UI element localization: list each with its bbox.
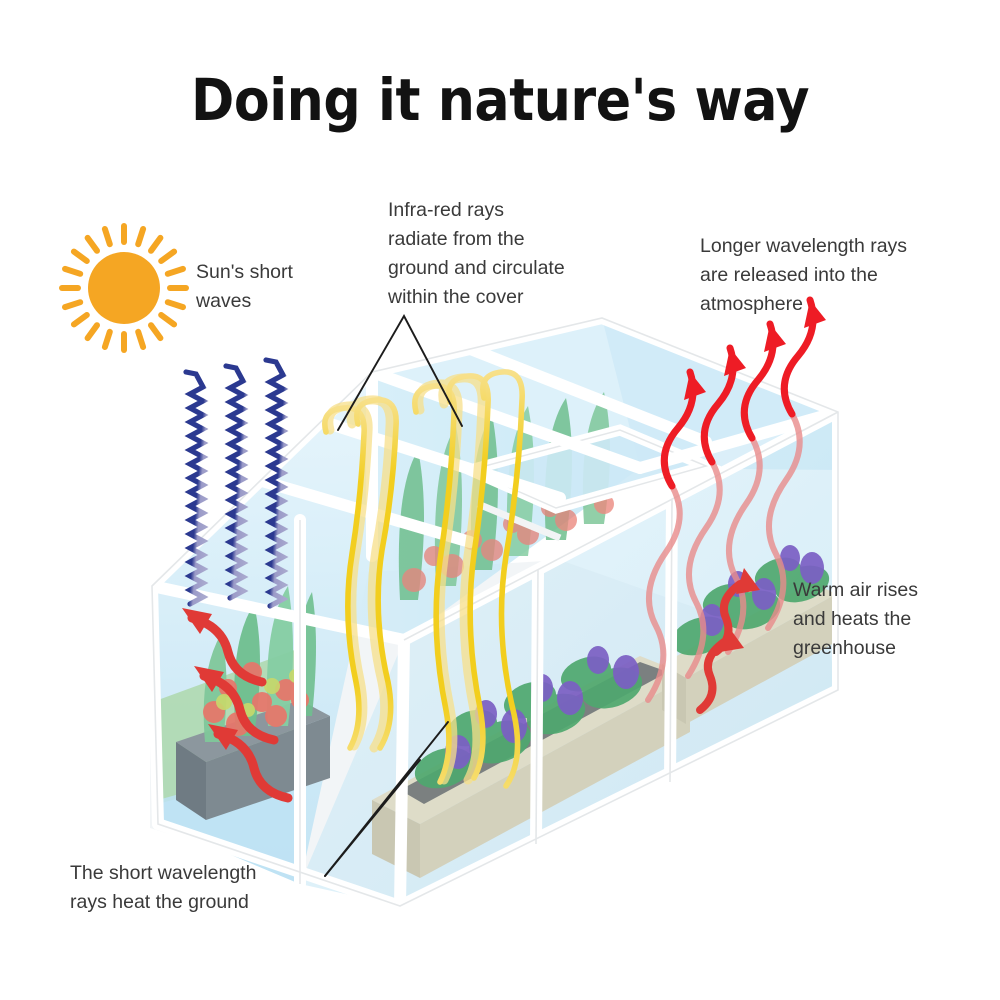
caption-longer-wavelength: Longer wavelength rays are released into… (700, 232, 907, 319)
caption-sun-short-waves: Sun's short waves (196, 258, 293, 316)
caption-infra-red-rays: Infra-red rays radiate from the ground a… (388, 196, 565, 312)
caption-short-wavelength: The short wavelength rays heat the groun… (70, 859, 256, 917)
infographic-canvas: Doing it nature's way (0, 0, 1000, 1000)
greenhouse-diagram (0, 0, 1000, 1000)
greenhouse-structure (150, 318, 840, 906)
sun-icon (62, 226, 186, 350)
caption-warm-air-rises: Warm air rises and heats the greenhouse (793, 576, 918, 663)
